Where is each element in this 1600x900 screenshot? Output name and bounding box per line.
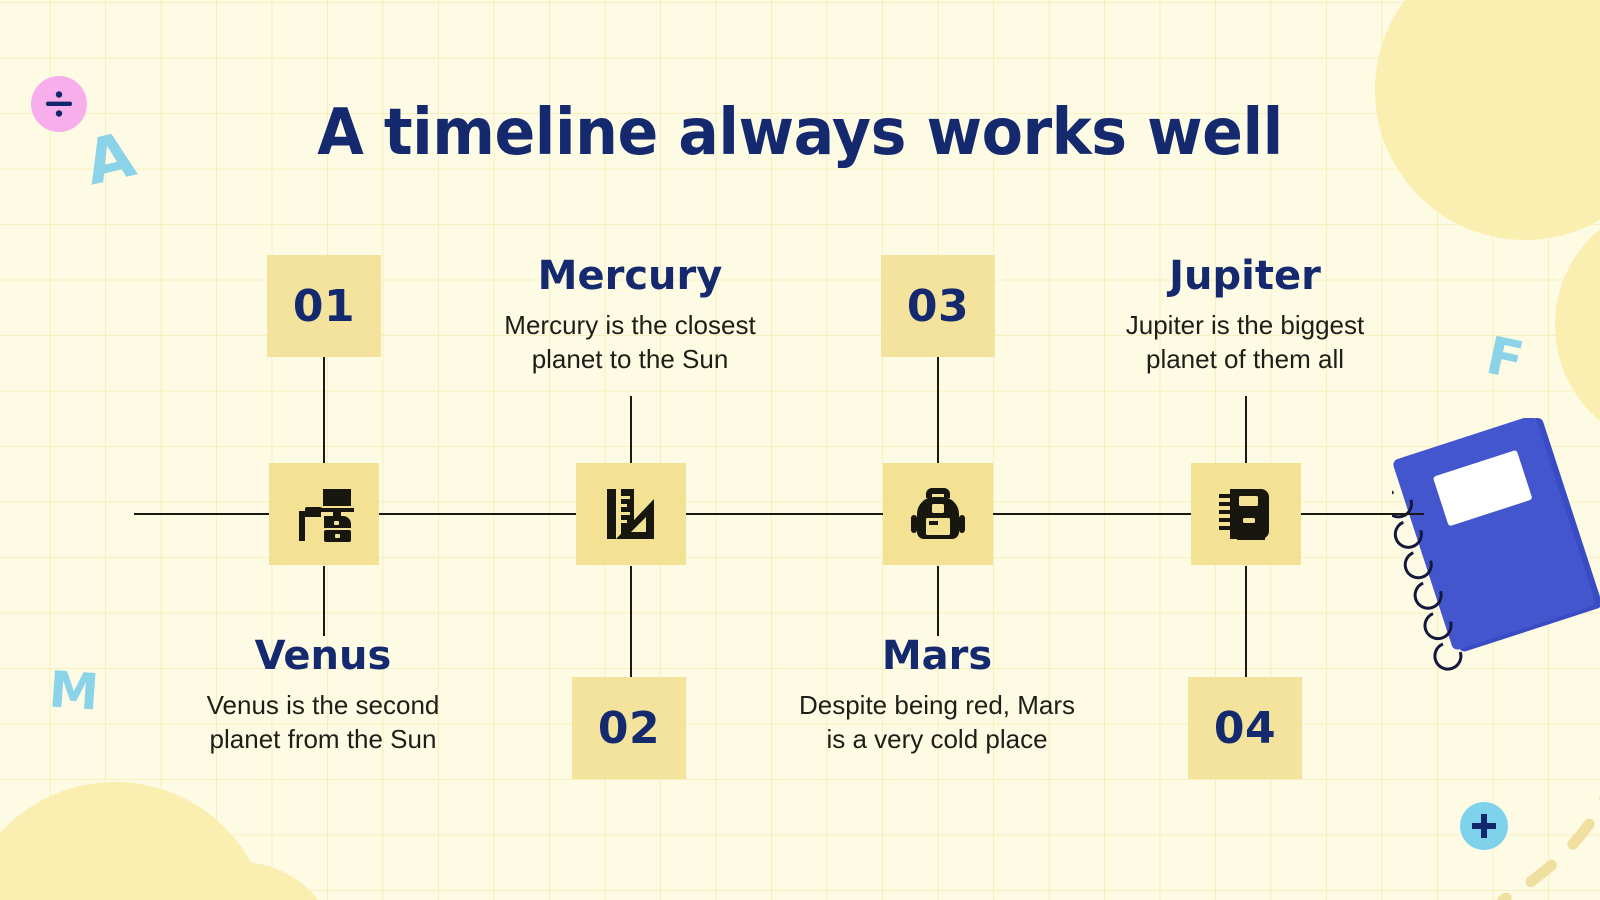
connector-number-01	[323, 357, 325, 464]
connector-text-jupiter	[1245, 396, 1247, 464]
decorative-circle-bottom-left-small	[140, 862, 340, 900]
connector-text-venus	[323, 566, 325, 636]
page-title: A timeline always works well	[48, 96, 1552, 170]
description-line: planet to the Sun	[430, 342, 830, 376]
connector-text-mars	[937, 566, 939, 636]
desk-computer-icon	[293, 485, 355, 543]
plus-sign-badge-icon	[1460, 802, 1508, 850]
timeline-heading-mercury: Mercury	[430, 255, 830, 297]
timeline-description-mars: Despite being red, Mars is a very cold p…	[737, 688, 1137, 757]
timeline-description-venus: Venus is the second planet from the Sun	[123, 688, 523, 757]
timeline-node-icon-01[interactable]	[269, 463, 379, 565]
blue-notebook-illustration	[1392, 418, 1600, 678]
description-line: planet from the Sun	[123, 722, 523, 756]
slide-canvas: A M F A timeline always works well 01 02…	[0, 0, 1600, 900]
decorative-circle-bottom-left-edge	[0, 840, 45, 900]
description-line: is a very cold place	[737, 722, 1137, 756]
spiral-notebook-icon	[1217, 485, 1275, 543]
plus-icon	[1470, 812, 1498, 840]
letter-m-sticker-icon: M	[47, 664, 100, 717]
description-line: Venus is the second	[123, 688, 523, 722]
timeline-node-icon-04[interactable]	[1191, 463, 1301, 565]
timeline-heading-mars: Mars	[737, 635, 1137, 677]
timeline-node-icon-03[interactable]	[883, 463, 993, 565]
decorative-circle-top-right-small	[1555, 200, 1600, 450]
connector-number-02	[630, 566, 632, 678]
timeline-number-01[interactable]: 01	[267, 255, 381, 357]
connector-number-04	[1245, 566, 1247, 678]
timeline-heading-jupiter: Jupiter	[1045, 255, 1445, 297]
timeline-number-02[interactable]: 02	[572, 677, 686, 779]
timeline-text-mars: Mars Despite being red, Mars is a very c…	[737, 635, 1137, 757]
backpack-icon	[911, 485, 965, 543]
timeline-text-jupiter: Jupiter Jupiter is the biggest planet of…	[1045, 255, 1445, 377]
decorative-circle-bottom-left-large	[0, 782, 270, 900]
ruler-set-square-icon	[602, 485, 660, 543]
timeline-number-04[interactable]: 04	[1188, 677, 1302, 779]
description-line: planet of them all	[1045, 342, 1445, 376]
connector-text-mercury	[630, 396, 632, 464]
dashed-arc-decoration	[1408, 660, 1600, 900]
timeline-text-mercury: Mercury Mercury is the closest planet to…	[430, 255, 830, 377]
timeline-heading-venus: Venus	[123, 635, 523, 677]
description-line: Jupiter is the biggest	[1045, 308, 1445, 342]
letter-f-sticker-icon: F	[1482, 330, 1528, 388]
timeline-number-03[interactable]: 03	[881, 255, 995, 357]
timeline-description-mercury: Mercury is the closest planet to the Sun	[430, 308, 830, 377]
description-line: Despite being red, Mars	[737, 688, 1137, 722]
timeline-description-jupiter: Jupiter is the biggest planet of them al…	[1045, 308, 1445, 377]
connector-number-03	[937, 357, 939, 464]
timeline-node-icon-02[interactable]	[576, 463, 686, 565]
timeline-text-venus: Venus Venus is the second planet from th…	[123, 635, 523, 757]
description-line: Mercury is the closest	[430, 308, 830, 342]
